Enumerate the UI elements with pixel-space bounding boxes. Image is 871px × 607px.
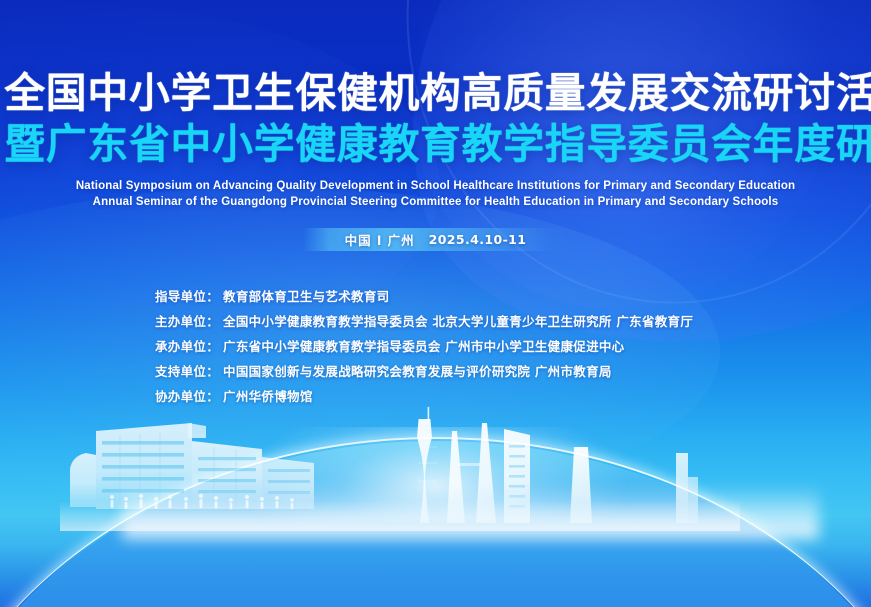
organizer-label: 指导单位：: [155, 286, 219, 305]
subtitle-english-line2: Annual Seminar of the Guangdong Provinci…: [0, 195, 871, 211]
date-label: 2025.4.10-11: [429, 232, 527, 247]
conference-poster: 全国中小学卫生保健机构高质量发展交流研讨活动 暨广东省中小学健康教育教学指导委员…: [0, 0, 871, 607]
list-item: 主办单位： 全国中小学健康教育教学指导委员会 北京大学儿童青少年卫生研究所 广东…: [155, 311, 693, 336]
arc-highlight-glow: [244, 427, 627, 521]
list-item: 承办单位： 广东省中小学健康教育教学指导委员会 广州市中小学卫生健康促进中心: [155, 336, 693, 361]
list-item: 支持单位： 中国国家创新与发展战略研究会教育发展与评价研究院 广州市教育局: [155, 361, 693, 386]
subtitle-english-line1: National Symposium on Advancing Quality …: [0, 179, 871, 195]
organizer-value: 中国国家创新与发展战略研究会教育发展与评价研究院 广州市教育局: [223, 361, 612, 380]
organizer-label: 主办单位：: [155, 311, 219, 330]
list-item: 指导单位： 教育部体育卫生与艺术教育司: [155, 286, 693, 311]
venue-date-banner-row: 中国 l 广州 2025.4.10-11: [0, 228, 871, 251]
title-block: 全国中小学卫生保健机构高质量发展交流研讨活动 暨广东省中小学健康教育教学指导委员…: [0, 68, 871, 210]
organizer-value: 全国中小学健康教育教学指导委员会 北京大学儿童青少年卫生研究所 广东省教育厅: [223, 311, 693, 330]
organizer-value: 广东省中小学健康教育教学指导委员会 广州市中小学卫生健康促进中心: [223, 336, 624, 355]
venue-label: 中国 l 广州: [345, 230, 415, 249]
organizer-label: 承办单位：: [155, 336, 219, 355]
organizer-value: 教育部体育卫生与艺术教育司: [223, 286, 389, 305]
organizer-value: 广州华侨博物馆: [223, 386, 313, 405]
page-title-primary: 全国中小学卫生保健机构高质量发展交流研讨活动: [4, 68, 866, 118]
bottom-arc-band: [0, 427, 871, 607]
list-item: 协办单位： 广州华侨博物馆: [155, 386, 693, 411]
organizer-label: 支持单位：: [155, 361, 219, 380]
page-title-secondary: 暨广东省中小学健康教育教学指导委员会年度研讨活动: [4, 119, 866, 169]
organizer-list: 指导单位： 教育部体育卫生与艺术教育司 主办单位： 全国中小学健康教育教学指导委…: [155, 286, 693, 411]
organizer-label: 协办单位：: [155, 386, 219, 405]
venue-date-banner: 中国 l 广州 2025.4.10-11: [303, 228, 568, 251]
